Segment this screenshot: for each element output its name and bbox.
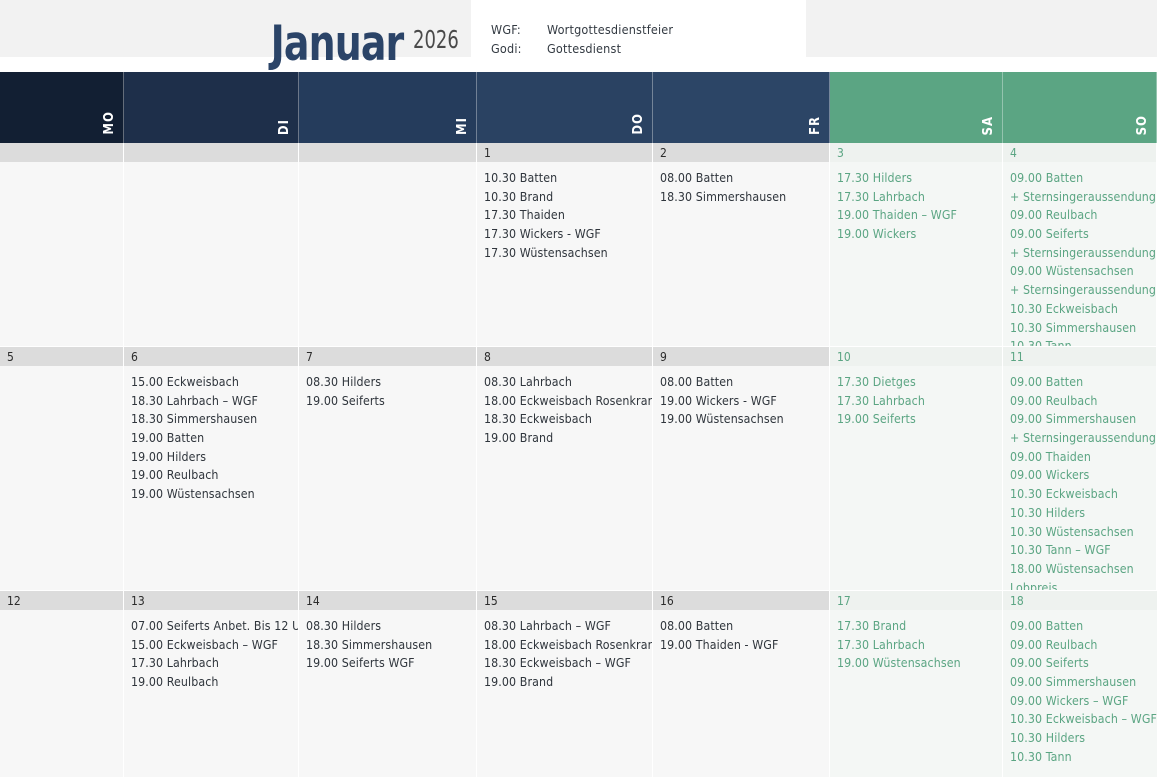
day-number: 1	[477, 143, 652, 162]
event-item[interactable]: 19.00 Wickers - WGF	[660, 392, 824, 411]
event-list	[124, 162, 298, 173]
event-item[interactable]: 19.00 Seiferts	[837, 410, 997, 429]
event-item[interactable]: 19.00 Wickers	[837, 225, 997, 244]
event-item[interactable]: 15.00 Eckweisbach – WGF	[131, 636, 293, 655]
day-cell-16[interactable]: 1608.00 Batten19.00 Thaiden - WGF	[653, 591, 830, 778]
event-item[interactable]: 19.00 Hilders	[131, 448, 293, 467]
event-list	[0, 162, 123, 173]
event-list: 10.30 Batten10.30 Brand17.30 Thaiden17.3…	[477, 162, 652, 266]
event-item[interactable]: + Sternsingeraussendung	[1010, 244, 1151, 263]
event-list	[0, 366, 123, 377]
event-item[interactable]: 19.00 Wüstensachsen	[131, 485, 293, 504]
day-cell-10[interactable]: 1017.30 Dietges17.30 Lahrbach19.00 Seife…	[830, 347, 1003, 591]
event-item[interactable]: 10.30 Eckweisbach	[1010, 300, 1151, 319]
event-item[interactable]: 10.30 Hilders	[1010, 729, 1152, 748]
day-cell-8[interactable]: 808.30 Lahrbach18.00 Eckweisbach Rosenkr…	[477, 347, 653, 591]
event-item[interactable]: 17.30 Hilders	[837, 169, 997, 188]
event-item[interactable]: 18.30 Simmershausen	[660, 188, 824, 207]
day-number: 14	[299, 591, 476, 610]
event-item[interactable]: 17.30 Wickers - WGF	[484, 225, 647, 244]
event-list: 08.00 Batten19.00 Wickers - WGF19.00 Wüs…	[653, 366, 829, 433]
event-item[interactable]: 10.30 Brand	[484, 188, 647, 207]
event-item[interactable]: 08.30 Lahrbach	[484, 373, 647, 392]
day-cell-empty[interactable]	[0, 143, 124, 347]
day-cell-3[interactable]: 317.30 Hilders17.30 Lahrbach19.00 Thaide…	[830, 143, 1003, 347]
event-item[interactable]: 17.30 Lahrbach	[131, 654, 293, 673]
event-item[interactable]: 09.00 Seiferts	[1010, 225, 1151, 244]
day-cell-12[interactable]: 12	[0, 591, 124, 778]
weekday-header-label: DO	[631, 113, 646, 135]
legend-row: WGF: Wortgottesdienstfeier	[491, 20, 806, 39]
day-number	[0, 143, 123, 162]
event-item[interactable]: 09.00 Simmershausen	[1010, 410, 1151, 429]
weekday-header-sa: SA	[830, 72, 1003, 143]
event-item[interactable]: 18.30 Lahrbach – WGF	[131, 392, 293, 411]
event-item[interactable]: 17.30 Thaiden	[484, 206, 647, 225]
legend-value: Wortgottesdienstfeier	[547, 20, 806, 39]
day-cell-6[interactable]: 615.00 Eckweisbach18.30 Lahrbach – WGF18…	[124, 347, 299, 591]
event-list: 08.30 Hilders19.00 Seiferts	[299, 366, 476, 414]
event-item[interactable]: 09.00 Wüstensachsen	[1010, 262, 1151, 281]
event-item[interactable]: 09.00 Simmershausen	[1010, 673, 1152, 692]
day-number: 8	[477, 347, 652, 366]
event-list: 08.00 Batten18.30 Simmershausen	[653, 162, 829, 210]
day-number: 5	[0, 347, 123, 366]
day-number: 12	[0, 591, 123, 610]
event-item[interactable]: 09.00 Thaiden	[1010, 448, 1151, 467]
day-number: 17	[830, 591, 1002, 610]
event-item[interactable]: 19.00 Seiferts	[306, 392, 471, 411]
weekday-header-so: SO	[1003, 72, 1157, 143]
event-item[interactable]: 19.00 Reulbach	[131, 673, 293, 692]
event-list: 17.30 Brand17.30 Lahrbach19.00 Wüstensac…	[830, 610, 1002, 677]
day-number: 2	[653, 143, 829, 162]
legend-key: WGF:	[491, 20, 547, 39]
day-cell-15[interactable]: 1508.30 Lahrbach – WGF18.00 Eckweisbach …	[477, 591, 653, 778]
day-cell-4[interactable]: 409.00 Batten+ Sternsingeraussendung09.0…	[1003, 143, 1157, 347]
event-item[interactable]: 10.30 Wüstensachsen	[1010, 523, 1151, 542]
day-number	[299, 143, 476, 162]
day-cell-18[interactable]: 1809.00 Batten09.00 Reulbach09.00 Seifer…	[1003, 591, 1157, 778]
day-number	[124, 143, 298, 162]
event-item[interactable]: + Sternsingeraussendung	[1010, 188, 1151, 207]
day-number: 16	[653, 591, 829, 610]
event-list: 15.00 Eckweisbach18.30 Lahrbach – WGF18.…	[124, 366, 298, 508]
event-item[interactable]: Lobpreis	[1010, 579, 1151, 591]
event-list: 08.30 Lahrbach18.00 Eckweisbach Rosenkra…	[477, 366, 652, 452]
event-item[interactable]: 19.00 Batten	[131, 429, 293, 448]
day-number: 15	[477, 591, 652, 610]
day-cell-7[interactable]: 708.30 Hilders19.00 Seiferts	[299, 347, 477, 591]
day-cell-17[interactable]: 1717.30 Brand17.30 Lahrbach19.00 Wüstens…	[830, 591, 1003, 778]
event-list: 09.00 Batten09.00 Reulbach09.00 Seiferts…	[1003, 610, 1157, 771]
weekday-header-label: SO	[1135, 115, 1150, 135]
event-item[interactable]: + Sternsingeraussendung	[1010, 429, 1151, 448]
event-item[interactable]: 19.00 Wüstensachsen	[660, 410, 824, 429]
event-item[interactable]: 18.00 Wüstensachsen	[1010, 560, 1151, 579]
event-item[interactable]: 19.00 Seiferts WGF	[306, 654, 471, 673]
event-item[interactable]: 10.30 Eckweisbach	[1010, 485, 1151, 504]
weekday-header-label: MI	[455, 117, 470, 135]
event-list: 07.00 Seiferts Anbet. Bis 12 Uhr15.00 Ec…	[124, 610, 298, 696]
event-item[interactable]: 10.30 Tann	[1010, 748, 1152, 767]
weekday-header-mi: MI	[299, 72, 477, 143]
weekday-header-label: MO	[102, 111, 117, 135]
event-item[interactable]: 17.30 Wüstensachsen	[484, 244, 647, 263]
month-title: Januar	[271, 19, 404, 68]
event-item[interactable]: 19.00 Brand	[484, 429, 647, 448]
day-number: 3	[830, 143, 1002, 162]
event-item[interactable]: 17.30 Lahrbach	[837, 636, 997, 655]
event-item[interactable]: 08.30 Hilders	[306, 373, 471, 392]
event-item[interactable]: 17.30 Brand	[837, 617, 997, 636]
event-item[interactable]: 09.00 Batten	[1010, 373, 1151, 392]
event-item[interactable]: 17.30 Lahrbach	[837, 188, 997, 207]
day-cell-1[interactable]: 110.30 Batten10.30 Brand17.30 Thaiden17.…	[477, 143, 653, 347]
event-item[interactable]: 08.00 Batten	[660, 169, 824, 188]
event-list	[0, 610, 123, 621]
day-number: 11	[1003, 347, 1156, 366]
weekday-header-mo: MO	[0, 72, 124, 143]
event-list: 08.30 Lahrbach – WGF18.00 Eckweisbach Ro…	[477, 610, 652, 696]
event-list: 17.30 Hilders17.30 Lahrbach19.00 Thaiden…	[830, 162, 1002, 248]
event-item[interactable]: 19.00 Thaiden – WGF	[837, 206, 997, 225]
event-item[interactable]: 08.00 Batten	[660, 617, 824, 636]
page-title: Januar 2026	[0, 0, 470, 72]
legend: WGF: Wortgottesdienstfeier Godi: Gottesd…	[471, 0, 806, 72]
event-item[interactable]: 17.30 Dietges	[837, 373, 997, 392]
day-cell-11[interactable]: 1109.00 Batten09.00 Reulbach09.00 Simmer…	[1003, 347, 1157, 591]
day-number: 4	[1003, 143, 1156, 162]
day-number: 10	[830, 347, 1002, 366]
event-list	[299, 162, 476, 173]
event-item[interactable]: 08.30 Lahrbach – WGF	[484, 617, 647, 636]
event-item[interactable]: 09.00 Seiferts	[1010, 654, 1152, 673]
event-list: 08.00 Batten19.00 Thaiden - WGF	[653, 610, 829, 658]
day-cell-empty[interactable]	[299, 143, 477, 347]
event-item[interactable]: 19.00 Wüstensachsen	[837, 654, 997, 673]
event-item[interactable]: + Sternsingeraussendung	[1010, 281, 1151, 300]
day-number: 13	[124, 591, 298, 610]
event-item[interactable]: 08.00 Batten	[660, 373, 824, 392]
event-item[interactable]: 09.00 Batten	[1010, 617, 1152, 636]
day-number: 18	[1003, 591, 1157, 610]
legend-value: Gottesdienst	[547, 39, 806, 58]
day-number: 9	[653, 347, 829, 366]
day-cell-empty[interactable]	[124, 143, 299, 347]
event-list: 08.30 Hilders18.30 Simmershausen19.00 Se…	[299, 610, 476, 677]
event-item[interactable]: 18.30 Eckweisbach – WGF	[484, 654, 647, 673]
event-item[interactable]: 10.30 Tann	[1010, 337, 1151, 347]
event-item[interactable]: 10.30 Hilders	[1010, 504, 1151, 523]
event-item[interactable]: 18.30 Eckweisbach	[484, 410, 647, 429]
year-title: 2026	[413, 27, 459, 52]
day-cell-13[interactable]: 1307.00 Seiferts Anbet. Bis 12 Uhr15.00 …	[124, 591, 299, 778]
day-number: 6	[124, 347, 298, 366]
weekday-header-label: FR	[808, 116, 823, 135]
day-cell-2[interactable]: 208.00 Batten18.30 Simmershausen	[653, 143, 830, 347]
event-item[interactable]: 08.30 Hilders	[306, 617, 471, 636]
weekday-header-fr: FR	[653, 72, 830, 143]
calendar-grid: MODIMIDOFRSASO110.30 Batten10.30 Brand17…	[0, 72, 1157, 778]
event-item[interactable]: 10.30 Eckweisbach – WGF	[1010, 710, 1152, 729]
event-item[interactable]: 19.00 Brand	[484, 673, 647, 692]
event-item[interactable]: 09.00 Wickers – WGF	[1010, 692, 1152, 711]
day-cell-5[interactable]: 5	[0, 347, 124, 591]
weekday-header-label: DI	[277, 119, 292, 135]
weekday-header-di: DI	[124, 72, 299, 143]
event-item[interactable]: 19.00 Thaiden - WGF	[660, 636, 824, 655]
event-item[interactable]: 07.00 Seiferts Anbet. Bis 12 Uhr	[131, 617, 293, 636]
event-item[interactable]: 19.00 Reulbach	[131, 466, 293, 485]
event-item[interactable]: 09.00 Reulbach	[1010, 392, 1151, 411]
weekday-header-do: DO	[477, 72, 653, 143]
event-list: 09.00 Batten+ Sternsingeraussendung09.00…	[1003, 162, 1156, 347]
legend-key: Godi:	[491, 39, 547, 58]
event-item[interactable]: 10.30 Tann – WGF	[1010, 541, 1151, 560]
event-item[interactable]: 18.30 Simmershausen	[306, 636, 471, 655]
event-item[interactable]: 09.00 Reulbach	[1010, 636, 1152, 655]
day-cell-14[interactable]: 1408.30 Hilders18.30 Simmershausen19.00 …	[299, 591, 477, 778]
event-item[interactable]: 10.30 Batten	[484, 169, 647, 188]
event-item[interactable]: 18.30 Simmershausen	[131, 410, 293, 429]
day-number: 7	[299, 347, 476, 366]
day-cell-9[interactable]: 908.00 Batten19.00 Wickers - WGF19.00 Wü…	[653, 347, 830, 591]
weekday-header-label: SA	[981, 116, 996, 135]
event-item[interactable]: 09.00 Wickers	[1010, 466, 1151, 485]
event-item[interactable]: 09.00 Batten	[1010, 169, 1151, 188]
event-item[interactable]: 17.30 Lahrbach	[837, 392, 997, 411]
event-item[interactable]: 18.00 Eckweisbach Rosenkranz	[484, 392, 647, 411]
event-item[interactable]: 09.00 Reulbach	[1010, 206, 1151, 225]
legend-row: Godi: Gottesdienst	[491, 39, 806, 58]
event-item[interactable]: 15.00 Eckweisbach	[131, 373, 293, 392]
event-list: 17.30 Dietges17.30 Lahrbach19.00 Seifert…	[830, 366, 1002, 433]
event-item[interactable]: 18.00 Eckweisbach Rosenkranz	[484, 636, 647, 655]
event-item[interactable]: 10.30 Simmershausen	[1010, 319, 1151, 338]
event-list: 09.00 Batten09.00 Reulbach09.00 Simmersh…	[1003, 366, 1156, 591]
